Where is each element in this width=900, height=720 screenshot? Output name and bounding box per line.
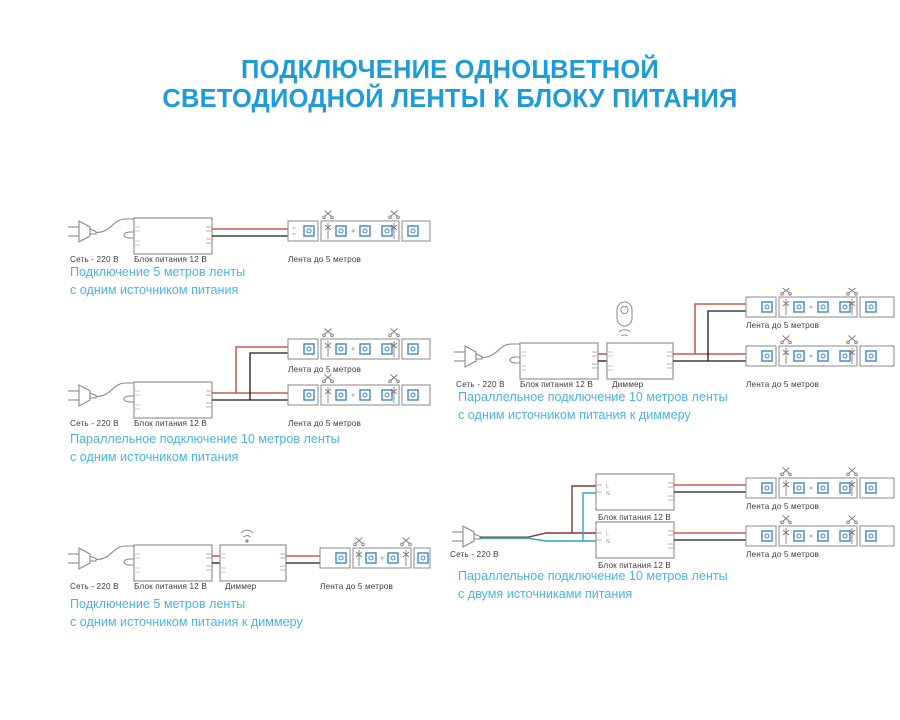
terminal-live-label: L <box>606 532 609 538</box>
terminal-live-label: L <box>606 484 609 490</box>
diagram-5-caption-line-2: с двумя источниками питания <box>458 586 728 604</box>
mains-plug-icon <box>452 526 480 547</box>
remote-control-icon <box>617 302 632 336</box>
diagram-2-svg <box>60 325 430 425</box>
power-supply-box <box>134 545 212 581</box>
diagram-2-caption-line-2: с одним источником питания <box>70 449 340 467</box>
diagram-3-svg <box>60 528 430 590</box>
mains-plug-icon <box>68 383 144 406</box>
power-supply-box <box>520 343 598 379</box>
label-mains: Сеть - 220 В <box>70 582 119 592</box>
label-power-supply: Блок питания 12 В <box>134 582 207 592</box>
label-mains: Сеть - 220 В <box>450 550 499 560</box>
infographic-canvas: ПОДКЛЮЧЕНИЕ ОДНОЦВЕТНОЙ СВЕТОДИОДНОЙ ЛЕН… <box>0 0 900 720</box>
page-title-line-1: ПОДКЛЮЧЕНИЕ ОДНОЦВЕТНОЙ <box>0 56 900 85</box>
mains-plug-icon <box>454 344 530 367</box>
diagram-1-caption-line-2: с одним источником питания <box>70 282 245 300</box>
label-led-strip: Лента до 5 метров <box>288 365 361 375</box>
diagram-4-caption-line-2: с одним источником питания к диммеру <box>458 407 728 425</box>
led-strip <box>746 516 894 547</box>
diagram-2-caption: Параллельное подключение 10 метров ленты… <box>70 431 340 466</box>
dimmer-box <box>220 545 286 581</box>
diagram-4-svg <box>450 288 900 388</box>
led-strip <box>746 288 894 317</box>
dc-wires <box>674 485 746 540</box>
led-strip <box>746 468 894 499</box>
diagram-3-dimmer-single: Сеть - 220 В Блок питания 12 В Диммер Ле… <box>60 528 430 590</box>
diagram-3-caption-line-2: с одним источником питания к диммеру <box>70 614 303 632</box>
dc-wires <box>212 347 288 400</box>
dimmer-box <box>607 343 673 379</box>
led-strip <box>288 211 430 242</box>
label-led-strip: Лента до 5 метров <box>746 380 819 390</box>
page-title: ПОДКЛЮЧЕНИЕ ОДНОЦВЕТНОЙ СВЕТОДИОДНОЙ ЛЕН… <box>0 56 900 114</box>
diagram-2-caption-line-1: Параллельное подключение 10 метров ленты <box>70 431 340 449</box>
led-strip <box>288 329 430 360</box>
label-led-strip: Лента до 5 метров <box>746 502 819 512</box>
label-dimmer: Диммер <box>225 582 256 592</box>
diagram-5-caption-line-1: Параллельное подключение 10 метров ленты <box>458 568 728 586</box>
label-led-strip: Лента до 5 метров <box>320 582 393 592</box>
dc-wires <box>673 304 746 361</box>
diagram-5-two-power-supplies: L N L N <box>440 466 900 576</box>
diagram-1-caption-line-1: Подключение 5 метров ленты <box>70 264 245 282</box>
led-strip <box>320 538 430 569</box>
diagram-3-caption-line-1: Подключение 5 метров ленты <box>70 596 303 614</box>
mains-plug-icon <box>68 546 144 569</box>
power-supply-box: L N <box>596 522 674 558</box>
terminal-neutral-label: N <box>606 539 610 545</box>
diagram-4-caption-line-1: Параллельное подключение 10 метров ленты <box>458 389 728 407</box>
page-title-line-2: СВЕТОДИОДНОЙ ЛЕНТЫ К БЛОКУ ПИТАНИЯ <box>0 85 900 114</box>
label-led-strip: Лента до 5 метров <box>746 550 819 560</box>
power-supply-box <box>134 218 212 254</box>
led-strip <box>288 375 430 406</box>
label-led-strip: Лента до 5 метров <box>288 255 361 265</box>
dc-wires <box>212 229 288 236</box>
dc-wires <box>212 556 220 563</box>
diagram-4-parallel-dimmer: Сеть - 220 В Блок питания 12 В Диммер Ле… <box>450 288 900 388</box>
mains-plug-icon <box>68 219 144 242</box>
terminal-neutral-label: N <box>606 491 610 497</box>
diagram-2-parallel-one-psu: Сеть - 220 В Блок питания 12 В Лента до … <box>60 325 430 425</box>
dc-wires <box>598 354 607 361</box>
diagram-5-caption: Параллельное подключение 10 метров ленты… <box>458 568 728 603</box>
label-led-strip: Лента до 5 метров <box>746 321 819 331</box>
diagram-1-caption: Подключение 5 метров ленты с одним источ… <box>70 264 245 299</box>
label-power-supply: Блок питания 12 В <box>134 419 207 429</box>
label-led-strip: Лента до 5 метров <box>288 419 361 429</box>
label-power-supply: Блок питания 12 В <box>598 513 671 523</box>
led-strip <box>746 336 894 367</box>
power-supply-box: L N <box>596 474 674 510</box>
dc-wires <box>286 556 320 563</box>
diagram-1-single-strip: Сеть - 220 В Блок питания 12 В Лента до … <box>60 205 430 265</box>
ir-sensor-icon <box>241 530 253 542</box>
label-mains: Сеть - 220 В <box>70 419 119 429</box>
power-supply-box <box>134 382 212 418</box>
ac-wires <box>480 486 596 541</box>
diagram-4-caption: Параллельное подключение 10 метров ленты… <box>458 389 728 424</box>
diagram-3-caption: Подключение 5 метров ленты с одним источ… <box>70 596 303 631</box>
